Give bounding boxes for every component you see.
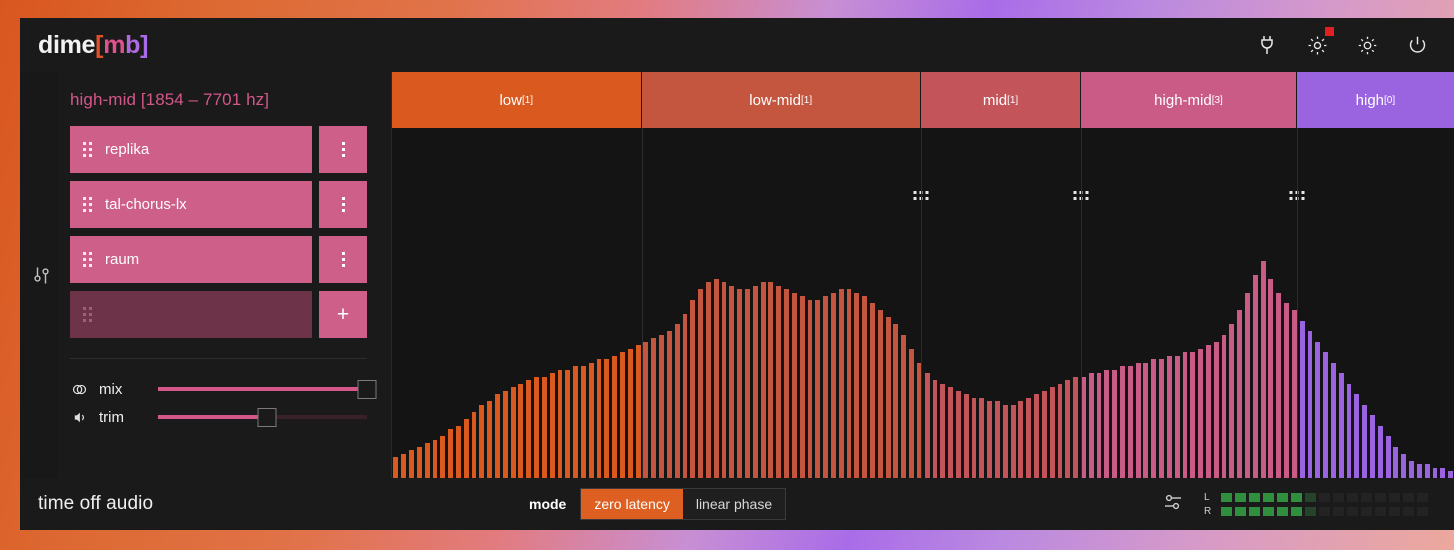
brightness-icon[interactable] <box>1356 34 1378 56</box>
spectrum-bar <box>1251 275 1259 478</box>
spectrum-bar <box>869 303 877 478</box>
spectrum-bar <box>587 363 595 479</box>
spectrum-bar <box>626 349 634 479</box>
spectrum-bar <box>1205 345 1213 478</box>
control-label: mix <box>99 381 147 398</box>
spectrum-bar <box>790 293 798 479</box>
spectrum-bar <box>1330 363 1338 479</box>
spectrum-bar <box>1314 342 1322 479</box>
output-meters: LR <box>1162 491 1428 518</box>
spectrum-bar <box>931 380 939 478</box>
spectrum-bar <box>1228 324 1236 478</box>
spectrum-bar <box>994 401 1002 478</box>
spectrum-bar <box>689 300 697 479</box>
spectrum-bar <box>1158 359 1166 478</box>
band-tab-low-mid[interactable]: low-mid[1] <box>642 72 921 128</box>
spectrum-bar <box>1189 352 1197 478</box>
spectrum-bar <box>1298 321 1306 479</box>
plugin-slot-row: raum <box>70 236 367 283</box>
kebab-icon <box>342 197 345 212</box>
add-plugin-button[interactable]: + <box>319 291 367 338</box>
spectrum-bar <box>1259 261 1267 478</box>
plugin-name: raum <box>105 251 139 268</box>
spectrum-bar <box>986 401 994 478</box>
drag-handle[interactable] <box>83 142 92 157</box>
spectrum-bar <box>533 377 541 479</box>
drag-handle[interactable] <box>83 252 92 267</box>
left-rail <box>20 72 58 478</box>
mode-option-zero-latency[interactable]: zero latency <box>581 489 682 519</box>
band-title: high-mid [1854 – 7701 hz] <box>70 90 367 110</box>
meter-channel-label: R <box>1204 506 1212 517</box>
plug-icon[interactable] <box>1256 34 1278 56</box>
spectrum-bar <box>431 440 439 479</box>
slot-menu-button[interactable] <box>319 126 367 173</box>
spectrum-bar <box>751 286 759 479</box>
spectrum-panel: low[1]low-mid[1]mid[1]high-mid[3]high[0] <box>392 72 1454 478</box>
spectrum-bar <box>501 391 509 479</box>
spectrum-bar <box>462 419 470 479</box>
spectrum-bar <box>642 342 650 479</box>
spectrum-bar <box>837 289 845 478</box>
spectrum-bar <box>1275 293 1283 479</box>
spectrum-bar <box>1392 447 1400 479</box>
control-trim: trim <box>70 403 367 431</box>
spectrum-bar <box>478 405 486 479</box>
spectrum-bar <box>1212 342 1220 479</box>
mode-segmented-control: zero latencylinear phase <box>580 488 786 520</box>
spectrum-bar <box>947 387 955 478</box>
brand-bracket-close: ] <box>140 31 148 59</box>
band-tab-high[interactable]: high[0] <box>1297 72 1454 128</box>
spectrum-bar <box>392 457 400 478</box>
spectrum-bar <box>1431 468 1439 479</box>
band-editor-sidebar: high-mid [1854 – 7701 hz] replikatal-cho… <box>58 72 392 478</box>
spectrum-bar <box>1244 293 1252 479</box>
spectrum-bar <box>923 373 931 478</box>
spectrum-bar <box>1181 352 1189 478</box>
band-divider-line <box>1081 128 1082 478</box>
trim-slider-knob[interactable] <box>257 408 276 427</box>
notification-badge <box>1325 27 1334 36</box>
spectrum-bar <box>681 314 689 479</box>
mix-slider-knob[interactable] <box>358 380 377 399</box>
spectrum-bar <box>853 293 861 479</box>
spectrum-bar <box>486 401 494 478</box>
band-tab-label: mid <box>983 92 1007 109</box>
spectrum-bar <box>595 359 603 478</box>
spectrum-bar <box>564 370 572 479</box>
spectrum-bar <box>1220 335 1228 479</box>
spectrum-bar <box>1369 415 1377 478</box>
meter-segments <box>1221 493 1428 502</box>
spectrum-bar <box>1306 331 1314 478</box>
spectrum-bar <box>814 300 822 479</box>
spectrum-bar <box>884 317 892 478</box>
mix-slider[interactable] <box>158 378 367 400</box>
sidebar-divider <box>70 358 367 359</box>
band-tab-count: [3] <box>1212 95 1223 106</box>
spectrum-bar <box>861 296 869 478</box>
spectrum-bar <box>767 282 775 478</box>
spectrum-bar <box>1111 370 1119 479</box>
spectrum-bar <box>525 380 533 478</box>
spectrum-bar <box>1236 310 1244 478</box>
mode-option-linear-phase[interactable]: linear phase <box>683 489 785 519</box>
band-tab-label: low <box>499 92 522 109</box>
spectrum-bar <box>1345 384 1353 479</box>
level-meter-rows: LR <box>1204 492 1428 517</box>
spectrum-bars <box>392 128 1454 478</box>
spectrum-bar <box>470 412 478 479</box>
spectrum-bar <box>1447 471 1454 478</box>
spectrum-bar <box>1095 373 1103 478</box>
spectrum-bar <box>1353 394 1361 478</box>
kebab-icon <box>342 252 345 267</box>
band-tab-label: low-mid <box>749 92 801 109</box>
slot-menu-button[interactable] <box>319 236 367 283</box>
spectrum-bar <box>1361 405 1369 479</box>
footer: time off audio mode zero latencylinear p… <box>20 478 1454 530</box>
kebab-icon <box>342 142 345 157</box>
speaker-icon <box>70 409 88 426</box>
spectrum-bar <box>1408 461 1416 479</box>
plus-icon: + <box>337 304 349 325</box>
spectrum-bar <box>572 366 580 478</box>
mode-label: mode <box>529 496 566 512</box>
spectrum-bar <box>439 436 447 478</box>
spectrum-bar <box>1423 464 1431 478</box>
spectrum-analyzer[interactable] <box>392 128 1454 478</box>
meter-row-L: L <box>1204 492 1428 503</box>
spectrum-bar <box>697 289 705 478</box>
spectrum-bar <box>705 282 713 478</box>
spectrum-bar <box>540 377 548 479</box>
plugin-slot-row: + <box>70 291 367 338</box>
spectrum-bar <box>415 447 423 479</box>
mode-selector: mode zero latencylinear phase <box>529 488 786 520</box>
band-tab-count: [1] <box>522 95 533 106</box>
spectrum-bar <box>447 429 455 478</box>
spectrum-bar <box>744 289 752 478</box>
spectrum-bar <box>915 363 923 479</box>
meter-channel-label: L <box>1204 492 1212 503</box>
spectrum-bar <box>517 384 525 479</box>
brand-letter-m: m <box>103 31 125 59</box>
band-tab-count: [1] <box>801 95 812 106</box>
band-tab-count: [0] <box>1384 95 1395 106</box>
spectrum-bar <box>665 331 673 478</box>
spectrum-bar <box>1119 366 1127 478</box>
band-tab-label: high-mid <box>1154 92 1212 109</box>
spectrum-bar <box>580 366 588 478</box>
brand-prefix: dime <box>38 31 95 59</box>
spectrum-bar <box>673 324 681 478</box>
spectrum-bar <box>783 289 791 478</box>
spectrum-bar <box>759 282 767 478</box>
blend-circles-icon <box>70 381 88 398</box>
spectrum-bar <box>548 373 556 478</box>
titlebar: dime[mb] <box>20 18 1454 72</box>
spectrum-bar <box>845 289 853 478</box>
spectrum-bar <box>720 282 728 478</box>
spectrum-bar <box>650 338 658 478</box>
meter-row-R: R <box>1204 506 1428 517</box>
spectrum-bar <box>619 352 627 478</box>
plugin-name: tal-chorus-lx <box>105 196 187 213</box>
drag-handle[interactable] <box>83 307 92 322</box>
spectrum-bar <box>978 398 986 479</box>
spectrum-bar <box>1025 398 1033 479</box>
band-tab-mid[interactable]: mid[1] <box>921 72 1081 128</box>
spectrum-bar <box>1064 380 1072 478</box>
spectrum-bar <box>1056 384 1064 479</box>
plugin-slot[interactable]: tal-chorus-lx <box>70 181 312 228</box>
spectrum-bar <box>1197 349 1205 479</box>
band-controls: mixtrim <box>70 375 367 431</box>
spectrum-bar <box>509 387 517 478</box>
spectrum-bar <box>798 296 806 478</box>
sliders-icon[interactable] <box>26 264 53 286</box>
meter-segments <box>1221 507 1428 516</box>
band-tab-label: high <box>1356 92 1384 109</box>
spectrum-bar <box>908 349 916 479</box>
spectrum-bar <box>736 289 744 478</box>
spectrum-bar <box>1415 464 1423 478</box>
spectrum-bar <box>400 454 408 479</box>
spectrum-bar <box>1376 426 1384 479</box>
plugin-slot-list: replikatal-chorus-lxraum+ <box>70 126 367 346</box>
spectrum-bar <box>1033 394 1041 478</box>
spectrum-bar <box>1001 405 1009 479</box>
control-mix: mix <box>70 375 367 403</box>
sliders-icon[interactable] <box>1162 491 1184 518</box>
spectrum-bar <box>900 335 908 479</box>
spectrum-bar <box>1009 405 1017 479</box>
spectrum-bar <box>962 394 970 478</box>
spectrum-bar <box>423 443 431 478</box>
spectrum-bar <box>1126 366 1134 478</box>
spectrum-bar <box>494 394 502 478</box>
app-brand: dime[mb] <box>38 31 148 60</box>
spectrum-bar <box>1165 356 1173 479</box>
spectrum-bar <box>1384 436 1392 478</box>
spectrum-bar <box>1150 359 1158 478</box>
spectrum-bar <box>955 391 963 479</box>
plugin-slot-row: tal-chorus-lx <box>70 181 367 228</box>
header-icon-group <box>1256 34 1428 56</box>
spectrum-bar <box>939 384 947 479</box>
brand-bracket-open: [ <box>95 31 103 59</box>
drag-handle[interactable] <box>83 197 92 212</box>
band-tab-count: [1] <box>1007 95 1018 106</box>
gear-icon[interactable] <box>1306 34 1328 56</box>
spectrum-bar <box>1087 373 1095 478</box>
spectrum-bar <box>556 370 564 479</box>
spectrum-bar <box>728 286 736 479</box>
spectrum-bar <box>1400 454 1408 479</box>
band-tab-high-mid[interactable]: high-mid[3] <box>1081 72 1297 128</box>
control-label: trim <box>99 409 147 426</box>
spectrum-bar <box>611 356 619 479</box>
spectrum-bar <box>1337 373 1345 478</box>
band-tab-low[interactable]: low[1] <box>392 72 642 128</box>
spectrum-bar <box>712 279 720 479</box>
spectrum-bar <box>892 324 900 478</box>
plugin-slot-row: replika <box>70 126 367 173</box>
plugin-slot[interactable]: raum <box>70 236 312 283</box>
spectrum-bar <box>806 300 814 479</box>
slot-menu-button[interactable] <box>319 181 367 228</box>
plugin-name: replika <box>105 141 149 158</box>
spectrum-bar <box>1072 377 1080 479</box>
spectrum-bar <box>1142 363 1150 479</box>
spectrum-bar <box>455 426 463 479</box>
brand-letter-b: b <box>125 31 140 59</box>
spectrum-bar <box>1103 370 1111 479</box>
band-divider-line <box>642 128 643 478</box>
spectrum-bar <box>970 398 978 479</box>
spectrum-bar <box>876 310 884 478</box>
plugin-window: dime[mb] <box>20 18 1454 530</box>
band-divider-line <box>1297 128 1298 478</box>
spectrum-bar <box>408 450 416 478</box>
spectrum-bar <box>1048 387 1056 478</box>
spectrum-bar <box>603 359 611 478</box>
spectrum-bar <box>822 296 830 478</box>
spectrum-bar <box>1439 468 1447 479</box>
spectrum-bar <box>1283 303 1291 478</box>
plugin-slot <box>70 291 312 338</box>
spectrum-bar <box>1267 279 1275 479</box>
plugin-slot[interactable]: replika <box>70 126 312 173</box>
spectrum-bar <box>1134 363 1142 479</box>
spectrum-bar <box>775 286 783 479</box>
company-brand: time off audio <box>38 493 153 515</box>
spectrum-bar <box>658 335 666 479</box>
spectrum-bar <box>1173 356 1181 479</box>
band-divider-line <box>921 128 922 478</box>
main-area: high-mid [1854 – 7701 hz] replikatal-cho… <box>20 72 1454 478</box>
spectrum-bar <box>830 293 838 479</box>
trim-slider[interactable] <box>158 406 367 428</box>
spectrum-bar <box>1040 391 1048 479</box>
band-tab-bar: low[1]low-mid[1]mid[1]high-mid[3]high[0] <box>392 72 1454 128</box>
spectrum-bar <box>1017 401 1025 478</box>
spectrum-bar <box>1322 352 1330 478</box>
power-icon[interactable] <box>1406 34 1428 56</box>
